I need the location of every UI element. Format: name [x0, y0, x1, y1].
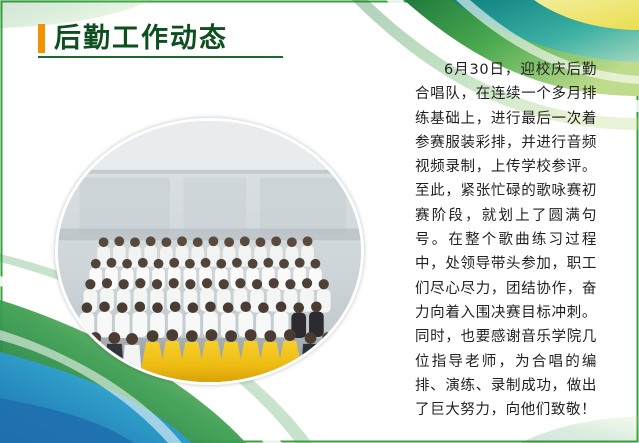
article-body: 6月30日，迎校庆后勤合唱队，在连续一个多月排练基础上，进行最后一次着参赛服装彩…	[415, 58, 597, 422]
choir-group-photo-illustration	[58, 121, 361, 382]
document-page: 后勤工作动态	[0, 0, 639, 443]
title-text: 后勤工作动态	[54, 24, 228, 53]
page-title: 后勤工作动态	[38, 21, 228, 55]
title-underline	[38, 56, 283, 58]
title-accent-bar	[38, 24, 45, 53]
choir-group-photo	[55, 118, 364, 385]
